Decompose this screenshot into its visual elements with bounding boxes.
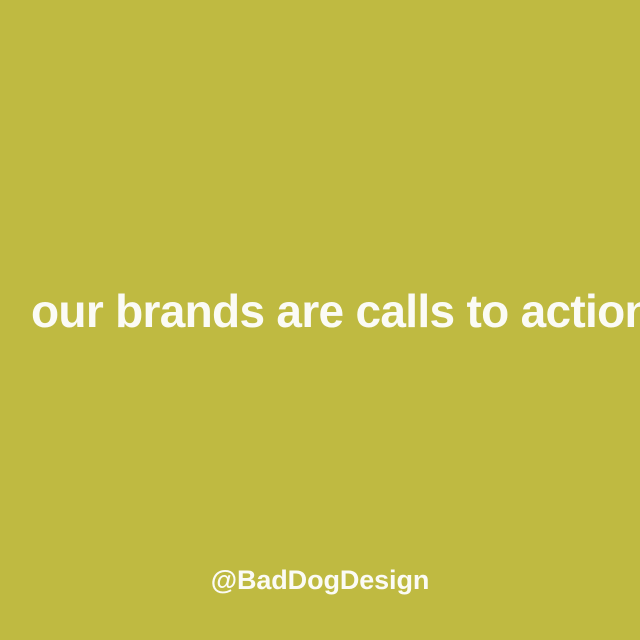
quote-card: our brands are calls to action. @BadDogD… xyxy=(0,0,640,640)
footer-container: @BadDogDesign xyxy=(0,520,640,640)
page-title: our brands are calls to action. xyxy=(0,287,640,336)
social-handle: @BadDogDesign xyxy=(211,566,429,596)
